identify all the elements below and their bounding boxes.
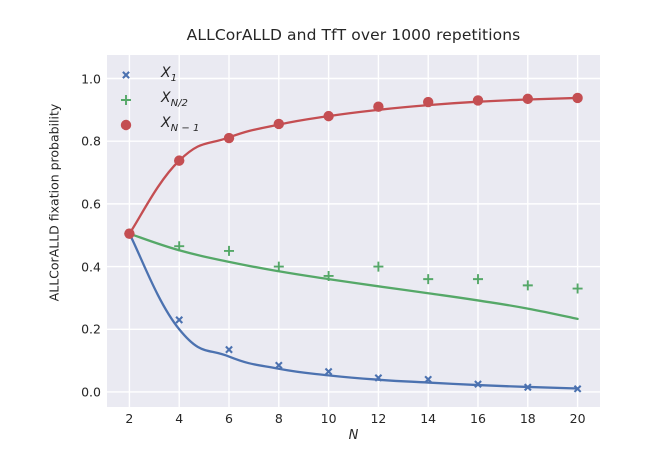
- x-marker: [120, 68, 132, 80]
- x-tick-label: 6: [209, 411, 249, 426]
- legend-item[interactable]: X1: [117, 62, 212, 87]
- x-axis-label: N: [107, 428, 600, 443]
- legend-item[interactable]: XN/2: [117, 87, 212, 112]
- x-tick-label: 2: [109, 411, 149, 426]
- x-tick-label: 10: [309, 411, 349, 426]
- legend-marker-plus-marker: [117, 89, 147, 111]
- circle-marker: [323, 111, 333, 121]
- circle-marker: [124, 228, 134, 238]
- circle-marker: [523, 94, 533, 104]
- y-axis-ticks: 0.00.20.40.60.81.0: [57, 55, 101, 407]
- legend-marker-x-marker: [117, 64, 147, 86]
- y-tick-label: 0.2: [61, 322, 101, 337]
- x-tick-label: 20: [558, 411, 598, 426]
- y-axis-label: ALLCorALLD fixation probability: [47, 53, 62, 353]
- circle-marker: [274, 119, 284, 129]
- plus-marker: [473, 274, 483, 284]
- y-tick-label: 0.8: [61, 134, 101, 149]
- plus-marker: [423, 274, 433, 284]
- circle-marker: [572, 93, 582, 103]
- series-line: [129, 234, 577, 389]
- plus-marker: [121, 95, 131, 105]
- legend-item[interactable]: XN − 1: [117, 112, 212, 137]
- legend: X1XN/2XN − 1: [117, 62, 212, 137]
- y-tick-label: 1.0: [61, 71, 101, 86]
- circle-marker: [121, 119, 131, 129]
- x-tick-label: 14: [408, 411, 448, 426]
- legend-label: XN − 1: [161, 115, 199, 134]
- y-tick-label: 0.6: [61, 196, 101, 211]
- series-markers: [123, 93, 584, 395]
- circle-marker: [423, 97, 433, 107]
- y-tick-label: 0.0: [61, 384, 101, 399]
- x-tick-label: 18: [508, 411, 548, 426]
- circle-marker: [473, 95, 483, 105]
- x-tick-label: 8: [259, 411, 299, 426]
- figure-canvas: ALLCorALLD and TfT over 1000 repetitions…: [0, 0, 664, 457]
- y-tick-label: 0.4: [61, 259, 101, 274]
- circle-marker: [174, 155, 184, 165]
- x-tick-label: 4: [159, 411, 199, 426]
- plus-marker: [373, 262, 383, 272]
- plus-marker: [523, 280, 533, 290]
- legend-label: X1: [161, 65, 177, 84]
- x-tick-label: 12: [358, 411, 398, 426]
- circle-marker: [373, 102, 383, 112]
- legend-marker-circle-marker: [117, 114, 147, 136]
- circle-marker: [224, 133, 234, 143]
- x-tick-label: 16: [458, 411, 498, 426]
- chart-title: ALLCorALLD and TfT over 1000 repetitions: [107, 26, 600, 44]
- legend-label: XN/2: [161, 90, 188, 109]
- plus-marker: [573, 284, 583, 294]
- plus-marker: [224, 246, 234, 256]
- series-line: [129, 234, 577, 319]
